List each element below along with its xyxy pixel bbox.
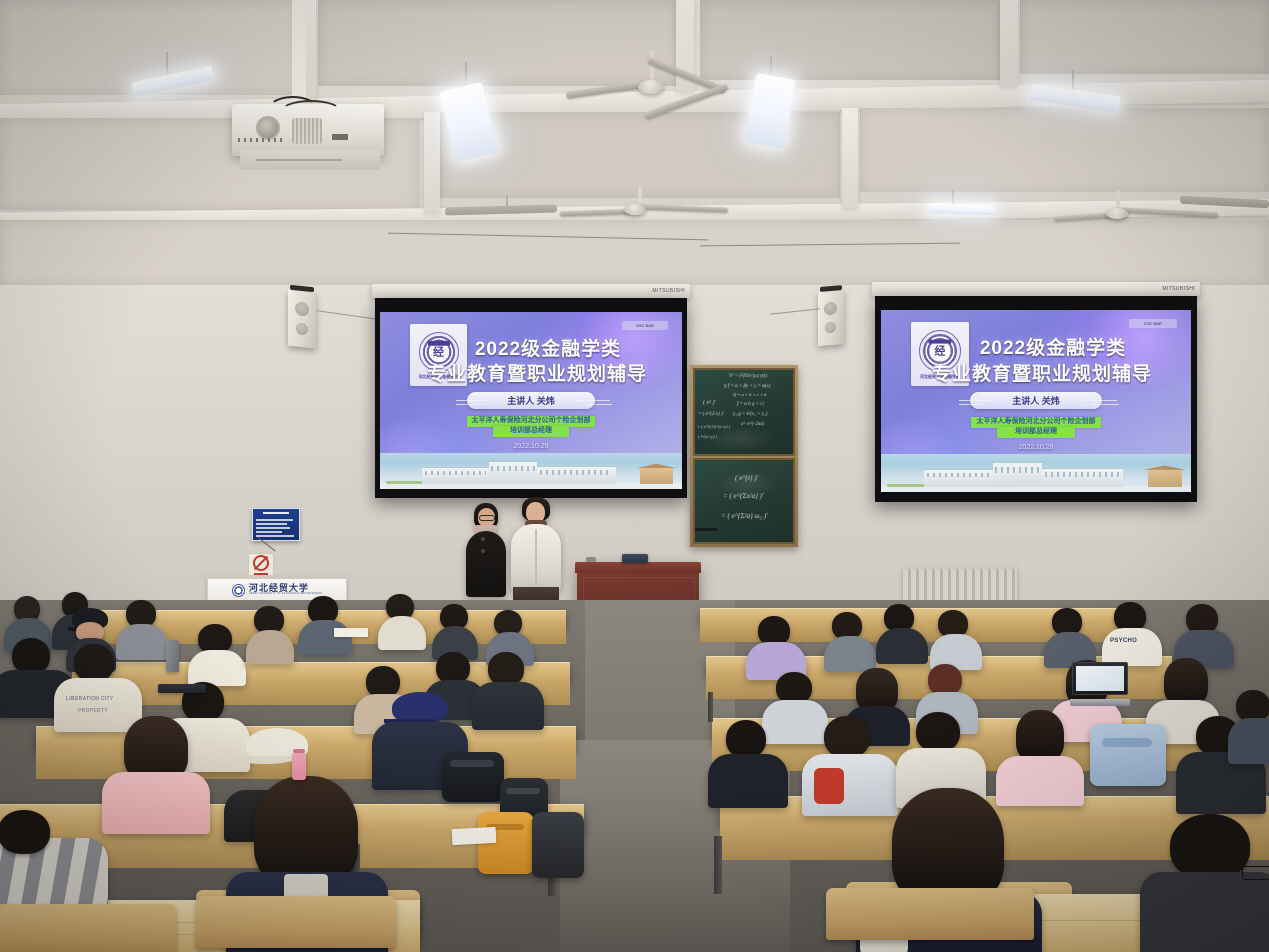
chalk-line: = ( e^{2·x} )' xyxy=(698,412,724,417)
slide-title-line1-right: 2022级金融学类 xyxy=(915,333,1191,360)
audience-member xyxy=(1176,604,1232,660)
slide-speaker-pill-right: 主讲人 关炜 xyxy=(970,392,1102,409)
ceiling-fan xyxy=(1058,190,1258,236)
hoodie-text: PSYCHO xyxy=(1110,638,1137,644)
notebook xyxy=(158,684,206,693)
slide-date-right: 2022.10.28 xyxy=(881,444,1191,451)
front-wall: MITSUBISHI 经 河北经贸大学金融学院 ESC BAR 2022级金融学… xyxy=(0,285,1269,615)
slide-speaker-name-right: 主讲人 关炜 xyxy=(1012,394,1060,407)
audience-member xyxy=(300,596,350,648)
chalk-line: = ( e^{Σ/a} ω₂ )' xyxy=(721,512,768,520)
chalk-line: ( x^{t} )' xyxy=(735,474,758,482)
chalkboard-upper: V² = ∂²f/∂x²|y,z y(t) η f = α + βy + y =… xyxy=(693,368,795,456)
screen-brand-label: MITSUBISHI xyxy=(652,288,685,294)
lecture-hall-photo: MITSUBISHI 经 河北经贸大学金融学院 ESC BAR 2022级金融学… xyxy=(0,0,1269,952)
audience-member xyxy=(108,716,204,826)
chalk-line: = ( e^{Σx/a} )' xyxy=(723,492,764,500)
audience-member: PSYCHO xyxy=(1104,602,1160,660)
slide-affiliation-line2: 培训部总经理 xyxy=(493,426,569,437)
ceiling xyxy=(0,0,1269,300)
slide-date: 2022.10.28 xyxy=(380,443,682,450)
slide-affiliation-line2-right: 培训部总经理 xyxy=(997,427,1075,438)
audience-member xyxy=(748,616,804,674)
projection-screen-right: 经 河北经贸大学金融学院 ESC BAR 2022级金融学类 专业教育暨职业规划… xyxy=(875,296,1197,502)
audience-member xyxy=(246,606,294,658)
backpack xyxy=(532,812,584,878)
audience-member xyxy=(378,594,426,644)
seat-back xyxy=(196,896,396,948)
slide-title-line1: 2022级金融学类 xyxy=(414,334,682,361)
paper-sheet xyxy=(334,628,368,637)
ceiling-fan xyxy=(572,50,732,130)
chalk-line: f = α b q + c| xyxy=(737,402,764,407)
chalk-line: V² = ∂²f/∂x²|y,z y(t) xyxy=(729,374,767,379)
water-bottle xyxy=(292,752,306,780)
audience-member xyxy=(712,720,782,804)
backpack xyxy=(1090,724,1166,786)
chalk-line: x²· e^{-2ax} xyxy=(741,422,764,427)
university-badge-icon xyxy=(232,584,245,597)
presenter-glasses xyxy=(479,515,495,521)
chalk-line: ( x² )' xyxy=(703,400,716,406)
audience-member xyxy=(1146,814,1269,952)
presentation-slide-left: 经 河北经贸大学金融学院 ESC BAR 2022级金融学类 专业教育暨职业规划… xyxy=(380,312,682,489)
slide-title-line2: 专业教育暨职业规划辅导 xyxy=(392,359,682,386)
presenter-left xyxy=(462,503,510,607)
baseball-cap xyxy=(392,692,448,724)
audience-member xyxy=(476,652,540,726)
slide-badge-text: ESC BAR xyxy=(636,323,654,328)
paper-sheet xyxy=(452,827,497,845)
chalk-line: Q = a + b + c + d xyxy=(733,392,766,397)
eyeglasses xyxy=(1242,866,1269,880)
thermos-bottle xyxy=(166,640,179,672)
audience-member xyxy=(190,624,244,682)
laptop xyxy=(1072,662,1128,706)
presenter-right xyxy=(509,497,565,609)
seat-back xyxy=(826,888,1034,940)
audience-member xyxy=(432,604,478,654)
projection-screen-case-right: MITSUBISHI xyxy=(872,282,1200,296)
slide-campus-footer-right xyxy=(881,454,1191,492)
slide-speaker-name: 主讲人 关炜 xyxy=(507,394,555,407)
ceiling-fan xyxy=(560,186,786,230)
audience-member xyxy=(1044,608,1096,662)
projection-screen-case-left: MITSUBISHI xyxy=(372,284,690,298)
audience-member xyxy=(824,612,876,666)
screen-brand-label-right: MITSUBISHI xyxy=(1162,286,1195,292)
presentation-slide-right: 经 河北经贸大学金融学院 ESC BAR 2022级金融学类 专业教育暨职业规划… xyxy=(881,310,1191,492)
projector-mount xyxy=(292,0,306,104)
projection-screen-left: 经 河北经贸大学金融学院 ESC BAR 2022级金融学类 专业教育暨职业规划… xyxy=(375,298,687,498)
podium-microphone xyxy=(622,554,648,563)
slide-badge: ESC BAR xyxy=(622,321,668,330)
wall-speaker xyxy=(288,290,316,349)
slide-badge-right: ESC BAR xyxy=(1129,319,1177,328)
chalk-line: η f = α + βy + y = φ(x) xyxy=(724,384,770,389)
slide-title-line2-right: 专业教育暨职业规划辅导 xyxy=(893,359,1191,386)
seat-back xyxy=(0,904,176,952)
backpack xyxy=(442,752,504,802)
slide-speaker-pill: 主讲人 关炜 xyxy=(467,392,595,409)
chalk-line: ( ³√(x+y) ) xyxy=(698,434,717,439)
audience-member xyxy=(930,610,982,664)
audience-member xyxy=(1232,690,1269,760)
chalk-line: + ( e^{(1)} (x+y) ) xyxy=(697,424,730,429)
chalk-line: y₂ g = k²(x₁ + y₂) xyxy=(733,412,767,417)
slide-badge-text-right: ESC BAR xyxy=(1144,321,1162,326)
chalkboard-lower: ( x^{t} )' = ( e^{Σx/a} )' = ( e^{Σ/a} ω… xyxy=(693,458,795,544)
slide-campus-footer xyxy=(380,453,682,489)
seating-area: LIBERATION CITY PROPERTY xyxy=(0,600,1269,952)
audience-member xyxy=(876,604,926,658)
wall-info-sign xyxy=(252,508,300,541)
wall-speaker xyxy=(818,290,844,346)
